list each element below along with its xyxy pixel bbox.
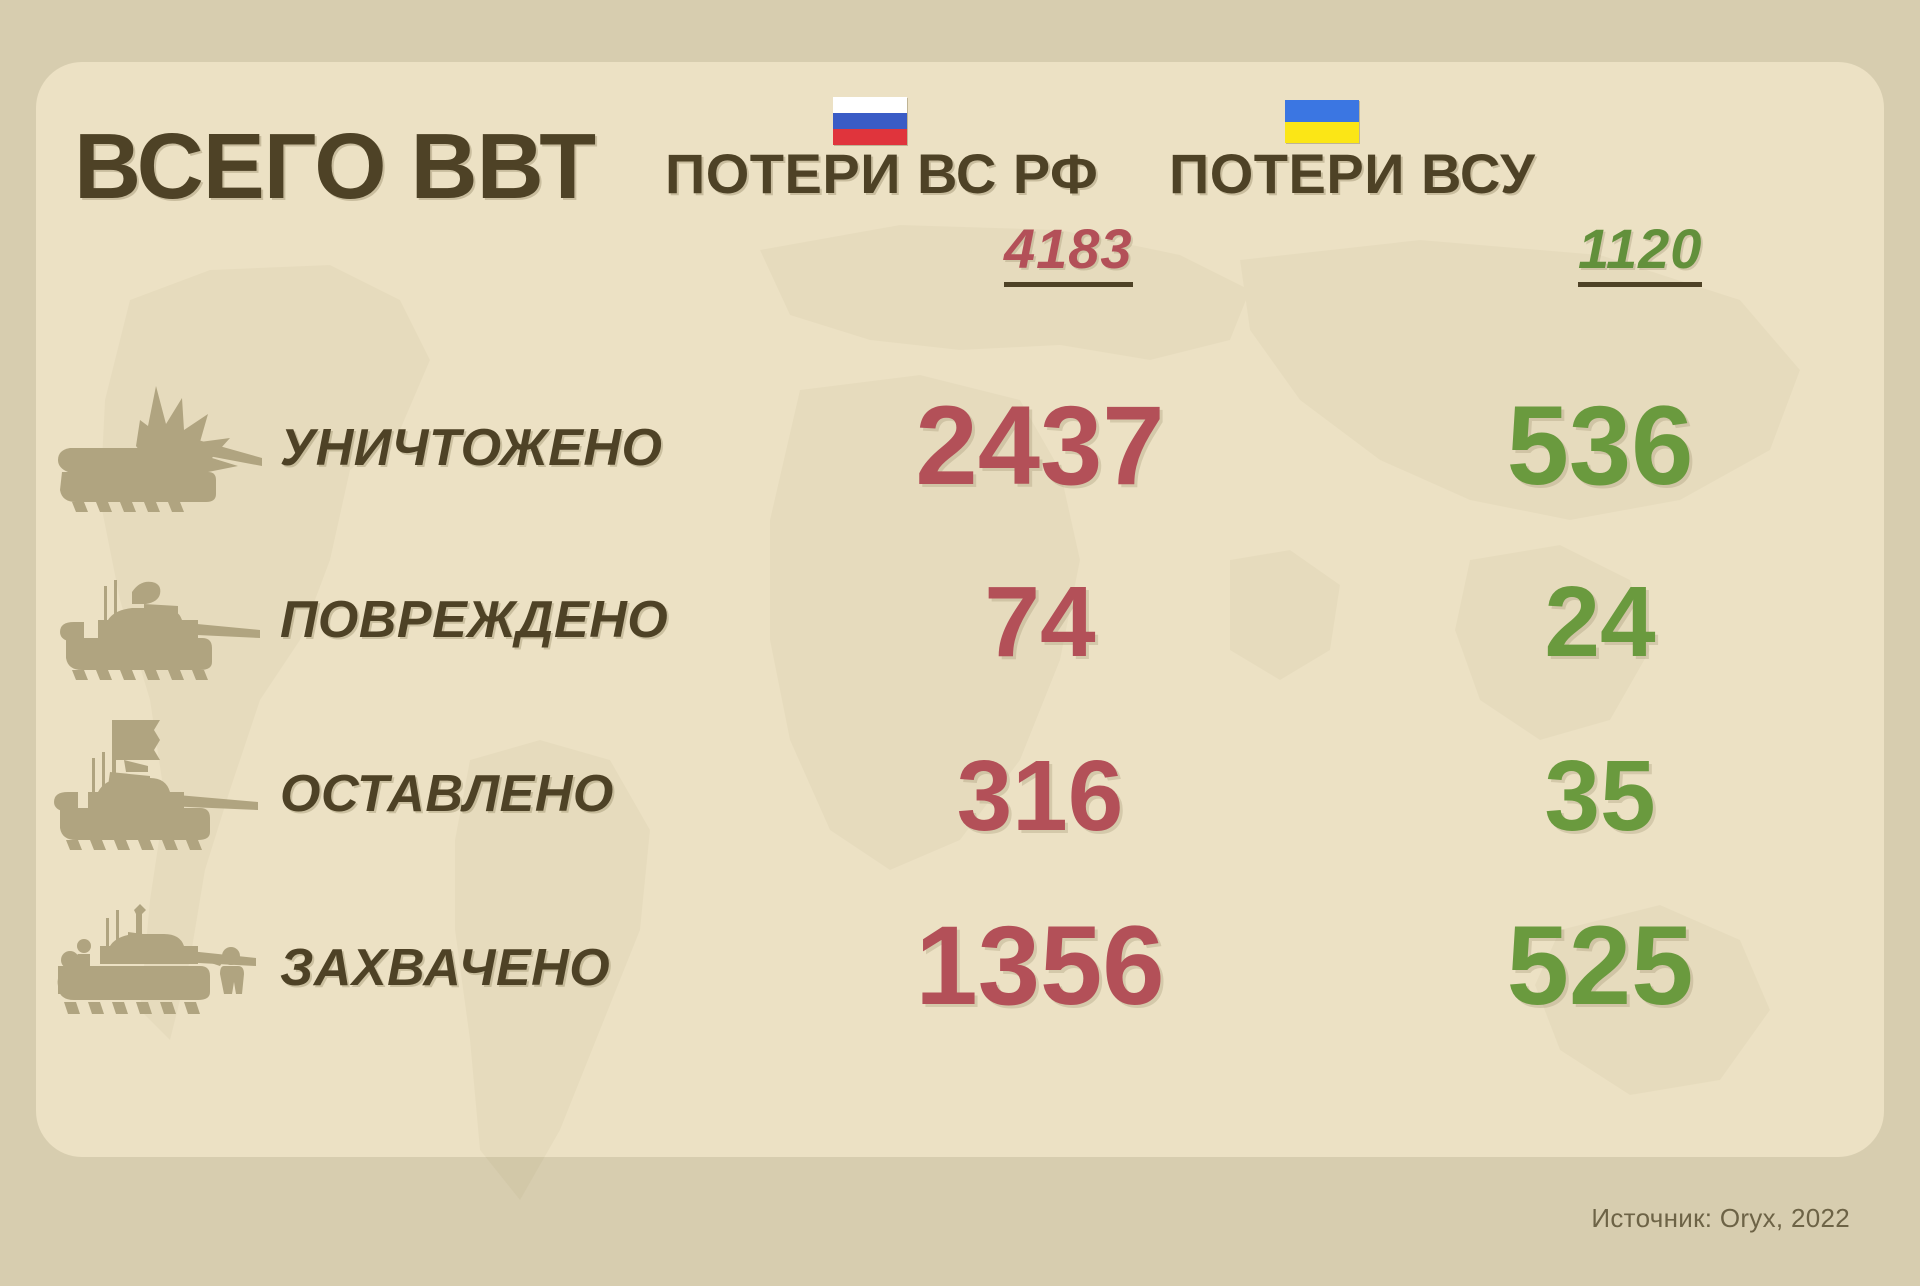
page-title: ВСЕГО ВВТ — [74, 120, 595, 213]
value-ukraine: 24 — [1390, 572, 1810, 672]
row-label: ПОВРЕЖДЕНО — [280, 590, 668, 650]
value-russia: 2437 — [830, 390, 1250, 502]
row-label: ЗАХВАЧЕНО — [280, 938, 610, 998]
total-ukraine-underline — [1578, 282, 1702, 287]
total-russia: 4183 — [1004, 216, 1133, 287]
value-ukraine: 35 — [1390, 746, 1810, 846]
abandoned-tank-icon — [48, 714, 264, 864]
row-label: ОСТАВЛЕНО — [280, 764, 614, 824]
row-label: УНИЧТОЖЕНО — [280, 418, 662, 478]
table-row: ПОВРЕЖДЕНО 74 24 — [0, 548, 1920, 698]
destroyed-tank-icon — [48, 380, 264, 530]
total-ukraine-value: 1120 — [1578, 217, 1702, 280]
column-header-russia: ПОТЕРИ ВС РФ — [665, 141, 1098, 206]
value-russia: 316 — [830, 746, 1250, 846]
value-russia: 1356 — [830, 910, 1250, 1022]
total-russia-value: 4183 — [1004, 217, 1133, 280]
table-row: ЗАХВАЧЕНО 1356 525 — [0, 880, 1920, 1030]
column-header-ukraine: ПОТЕРИ ВСУ — [1169, 141, 1535, 206]
source-attribution: Источник: Oryx, 2022 — [1591, 1203, 1850, 1234]
total-ukraine: 1120 — [1578, 216, 1702, 287]
value-ukraine: 525 — [1390, 910, 1810, 1022]
damaged-tank-icon — [48, 548, 264, 698]
russia-flag-icon — [833, 97, 907, 145]
table-row: УНИЧТОЖЕНО 2437 536 — [0, 380, 1920, 530]
total-russia-underline — [1004, 282, 1133, 287]
table-row: ОСТАВЛЕНО 316 35 — [0, 714, 1920, 864]
value-ukraine: 536 — [1390, 390, 1810, 502]
value-russia: 74 — [830, 572, 1250, 672]
captured-tank-icon — [48, 880, 264, 1030]
ukraine-flag-icon — [1285, 100, 1359, 143]
